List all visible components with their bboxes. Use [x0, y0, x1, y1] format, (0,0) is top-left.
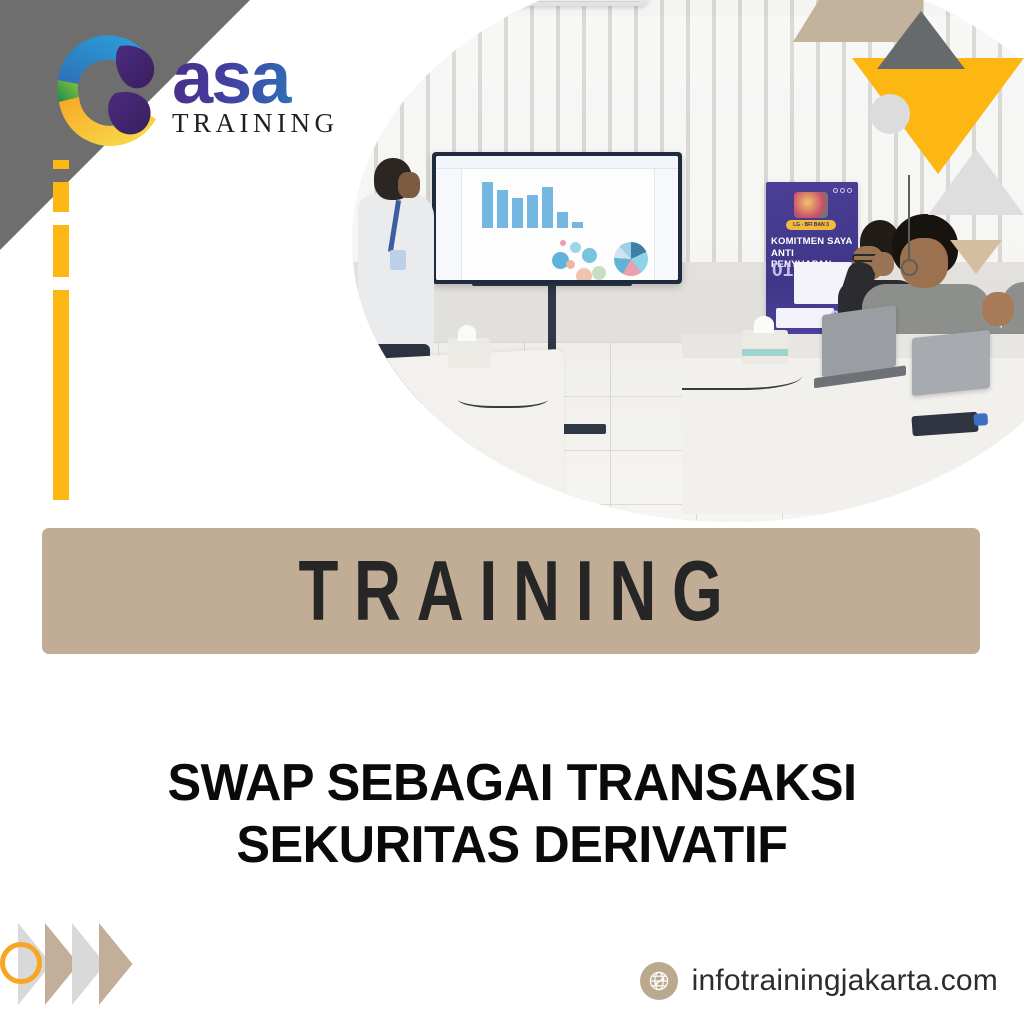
- yellow-bar-4: [53, 290, 69, 500]
- gray-circle: [870, 94, 910, 134]
- cable-1: [458, 386, 548, 408]
- laptop-2: [912, 330, 990, 396]
- website-url[interactable]: infotrainingjakarta.com: [692, 964, 998, 998]
- banner-item-01: 01: [772, 260, 793, 282]
- orange-ring-icon: [0, 942, 42, 984]
- title-line-2: SEKURITAS DERIVATIF: [15, 814, 1008, 876]
- logo-wordmark: asa TRAINING: [172, 46, 338, 139]
- chevron-arrows: [18, 923, 208, 1005]
- table-left: [364, 349, 564, 509]
- bar-chart: [482, 180, 583, 228]
- banner-badge: LG - BFI BAN 3: [786, 220, 836, 230]
- training-banner-label: TRAINING: [283, 542, 738, 639]
- pie-chart: [614, 242, 648, 276]
- participant-c-hand: [982, 292, 1014, 326]
- asa-training-logo: asa TRAINING: [34, 18, 334, 158]
- screen-content: [436, 156, 678, 280]
- page-title: SWAP SEBAGAI TRANSAKSI SEKURITAS DERIVAT…: [15, 752, 1008, 876]
- yellow-bar-1: [53, 160, 69, 169]
- presenter-badge: [390, 250, 406, 270]
- screen-toolbar: [436, 156, 678, 169]
- white-triangle: [928, 149, 1024, 215]
- logo-name: asa: [172, 46, 338, 110]
- hanging-ring-stem: [908, 175, 910, 261]
- banner-dots-icon: [833, 188, 852, 193]
- logo-mark-icon: [34, 18, 182, 158]
- poster-canvas: LG - BFI BAN 3 KOMITMEN SAYA ANTI PENYUA…: [0, 0, 1024, 1024]
- banner-title-line1: KOMITMEN SAYA: [771, 236, 854, 247]
- gray-triangle: [877, 11, 965, 69]
- banner-illustration: [794, 192, 828, 218]
- cable-2: [682, 362, 802, 390]
- yellow-bar-3: [53, 225, 69, 277]
- air-conditioner-icon: [512, 0, 648, 6]
- tissue-box-left: [448, 338, 490, 368]
- small-tan-triangle: [950, 240, 1002, 274]
- presenter-face: [398, 172, 420, 198]
- tissue-box-right: [742, 330, 788, 364]
- hanging-ring-icon: [901, 259, 918, 276]
- training-banner: TRAINING: [42, 528, 980, 654]
- logo-subtitle: TRAINING: [172, 108, 338, 139]
- globe-icon: [640, 962, 678, 1000]
- presentation-screen: [432, 152, 682, 284]
- screen-right-pane: [654, 169, 678, 280]
- website-footer[interactable]: infotrainingjakarta.com: [640, 962, 998, 1000]
- participant-a-hand: [872, 252, 894, 276]
- title-line-1: SWAP SEBAGAI TRANSAKSI: [15, 752, 1008, 814]
- chevron-4-icon: [99, 923, 153, 1005]
- screen-left-pane: [436, 169, 462, 280]
- laptop-1: [822, 305, 896, 377]
- yellow-bar-2: [53, 182, 69, 212]
